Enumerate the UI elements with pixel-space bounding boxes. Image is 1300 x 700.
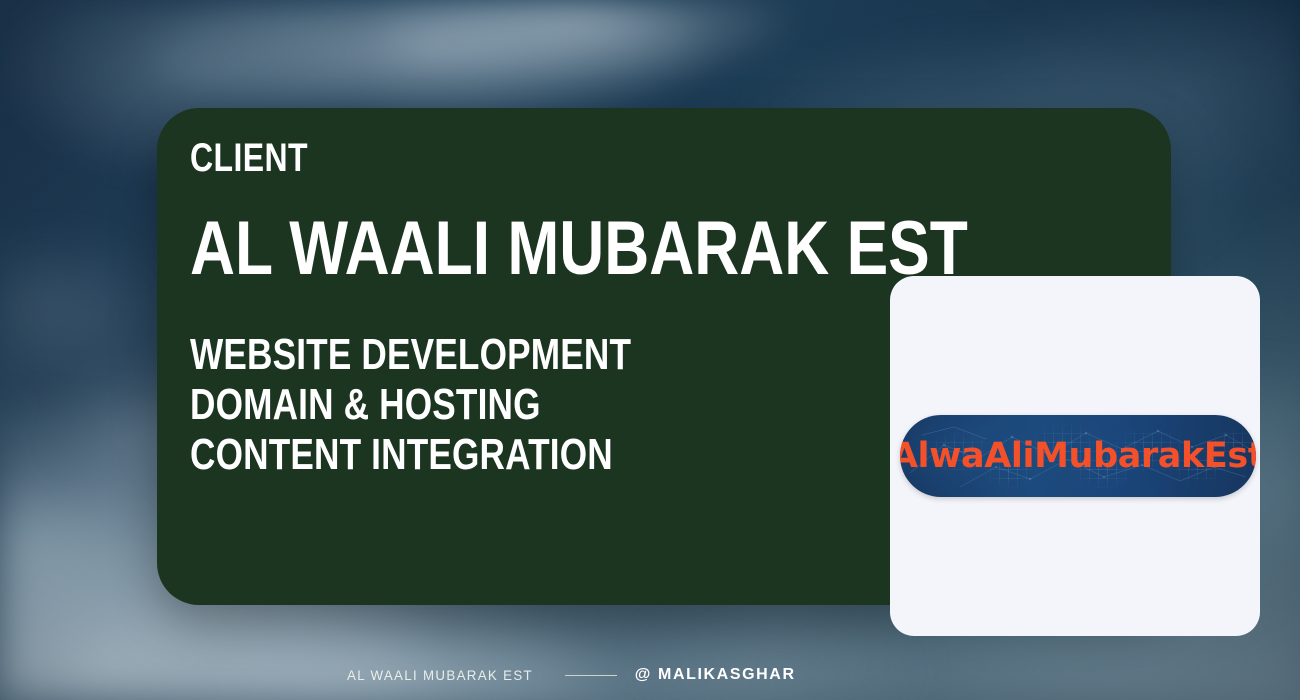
- client-eyebrow-label: CLIENT: [190, 138, 654, 178]
- logo-card: AlwaAliMubarakEst: [890, 276, 1260, 636]
- services-list: WEBSITE DEVELOPMENT DOMAIN & HOSTING CON…: [190, 330, 770, 480]
- footer-divider: [565, 675, 617, 676]
- card-text-column: CLIENT AL WAALI MUBARAK EST WEBSITE DEVE…: [190, 138, 770, 480]
- project-card: CLIENT AL WAALI MUBARAK EST WEBSITE DEVE…: [157, 108, 1171, 605]
- footer-social-handle: @ MALIKASGHAR: [635, 666, 796, 684]
- logo-wordmark: AlwaAliMubarakEst: [900, 436, 1256, 476]
- service-item: WEBSITE DEVELOPMENT: [190, 330, 654, 380]
- client-name-heading: AL WAALI MUBARAK EST: [190, 212, 666, 286]
- sky-background: CLIENT AL WAALI MUBARAK EST WEBSITE DEVE…: [0, 0, 1300, 700]
- service-item: DOMAIN & HOSTING: [190, 380, 654, 430]
- card-footer: AL WAALI MUBARAK EST @ MALIKASGHAR: [347, 664, 796, 686]
- logo-pill: AlwaAliMubarakEst: [900, 415, 1256, 497]
- footer-brand-text: AL WAALI MUBARAK EST: [347, 667, 533, 683]
- service-item: CONTENT INTEGRATION: [190, 430, 654, 480]
